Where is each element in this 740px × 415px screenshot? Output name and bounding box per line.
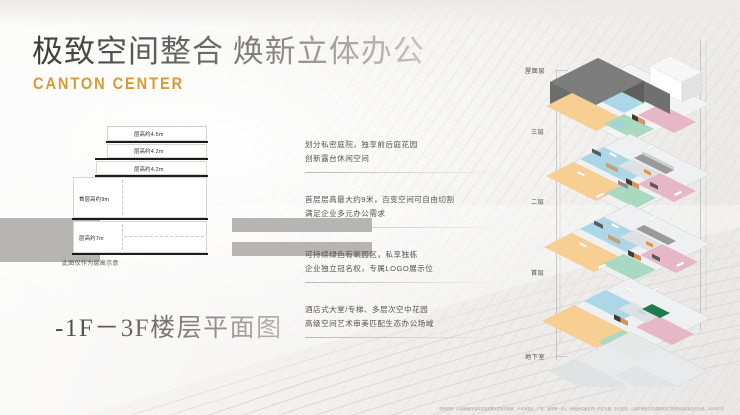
- feature-block-2: 首层层高最大约9米，百变空间可自由切割 满足企业多元办公需求: [305, 193, 520, 228]
- feature-1-divider: [305, 172, 505, 173]
- feature-block-3: 可持续绿色有氧园区，私享独栋 企业独立冠名权，专属LOGO展示位: [305, 248, 520, 283]
- iso-level-roof: [546, 56, 710, 144]
- footer-disclaimer: 特别说明：(1)本画面所绘内容及效果示意仅供参考，不作为图片、广告、宣传等一切以…: [0, 406, 740, 412]
- feature-block-4: 酒店式大堂/专梯、多层次空中花园 高级空间艺术审美匹配生态办公场域: [305, 303, 520, 338]
- feature-1-line-2: 创新露台休闲空间: [305, 152, 520, 166]
- section-floor-3-label: 层高约4.2m: [134, 147, 164, 155]
- feature-3-divider: [305, 282, 505, 283]
- section-floor-b1-label: 层高约7m: [79, 234, 104, 242]
- section-slab-b1: [72, 253, 208, 255]
- slide-root: 极致空间整合 焕新立体办公 CANTON CENTER -1F－3F楼层平面图 …: [0, 0, 740, 415]
- feature-2-line-2: 满足企业多元办公需求: [305, 207, 520, 221]
- section-diagram-note: 此图仅作为层高示意: [62, 258, 119, 267]
- feature-4-line-1: 酒店式大堂/专梯、多层次空中花园: [305, 303, 520, 317]
- feature-4-line-2: 高级空间艺术审美匹配生态办公场域: [305, 317, 520, 331]
- section-floor-b1-mid-dash: [124, 236, 204, 237]
- iso-level-basement: [550, 332, 708, 387]
- section-title: -1F－3F楼层平面图: [55, 308, 283, 344]
- section-height-diagram: 层高约4.5m 层高约4.2m 层高约4.2m 首层高约9m 层高约7m: [62, 124, 247, 254]
- feature-2-divider: [305, 227, 505, 228]
- section-floor-1-dash: [122, 180, 123, 215]
- feature-1-line-1: 划分私密庭院，独享前后庭花园: [305, 138, 520, 152]
- feature-3-line-1: 可持续绿色有氧园区，私享独栋: [305, 248, 520, 262]
- section-floor-b1-dash: [122, 224, 123, 250]
- feature-3-line-2: 企业独立冠名权，专属LOGO展示位: [305, 262, 520, 276]
- feature-2-line-1: 首层层高最大约9米，百变空间可自由切割: [305, 193, 520, 207]
- section-floor-4-top-dash: [107, 126, 207, 127]
- feature-4-divider: [305, 337, 505, 338]
- brand-subtitle: CANTON CENTER: [33, 74, 184, 94]
- isometric-building-diagram: [530, 12, 740, 387]
- iso-level-3f: [546, 134, 710, 214]
- iso-level-2f: [544, 204, 710, 284]
- section-floor-4-label: 层高约4.5m: [134, 130, 164, 138]
- section-floor-2-label: 层高约4.2m: [134, 165, 164, 173]
- section-floor-1-label: 首层高约9m: [79, 195, 109, 203]
- page-title: 极致空间整合 焕新立体办公: [32, 26, 425, 71]
- feature-block-1: 划分私密庭院，独享前后庭花园 创新露台休闲空间: [305, 138, 520, 173]
